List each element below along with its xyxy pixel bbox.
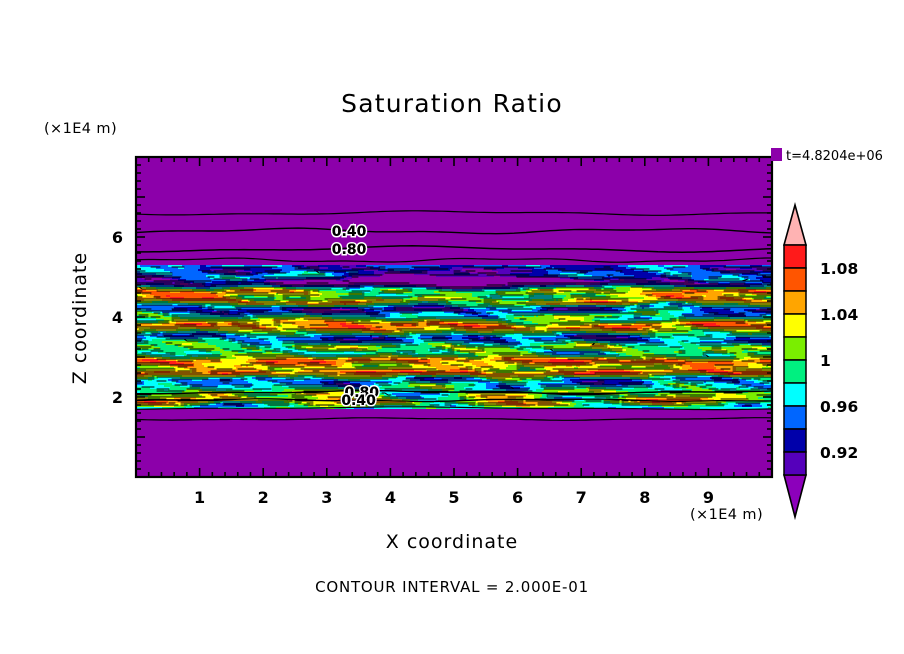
contour-field [136,157,772,477]
contour-label: 0.400.40 [332,224,367,240]
colorbar-band [784,383,806,406]
svg-text:0.80: 0.80 [332,242,367,258]
x-tick-label: 8 [639,488,650,507]
y-tick-label: 2 [112,388,123,407]
x-tick-label: 5 [448,488,459,507]
colorbar-tick-label: 1 [820,352,831,370]
x-tick-label: 7 [576,488,587,507]
colorbar-band [784,360,806,383]
y-axis-unit-label: (×1E4 m) [44,121,117,137]
y-tick-label: 4 [112,308,123,327]
contour-plot-figure: Saturation Ratio (×1E4 m) t=4.8204e+06 0… [0,0,904,654]
x-tick-label: 2 [258,488,269,507]
timestamp-label: t=4.8204e+06 [786,149,883,164]
x-tick-label: 4 [385,488,396,507]
colorbar-tick-label: 0.96 [820,398,858,416]
x-tick-label: 1 [194,488,205,507]
svg-text:0.40: 0.40 [341,393,376,409]
x-tick-label: 9 [703,488,714,507]
timestamp-swatch [771,148,782,161]
figure-canvas: Saturation Ratio (×1E4 m) t=4.8204e+06 0… [0,0,904,654]
contour-label: 0.400.40 [341,393,376,409]
contour-label: 0.800.80 [332,242,367,258]
svg-text:0.40: 0.40 [332,224,367,240]
x-tick-label: 6 [512,488,523,507]
colorbar-tick-label: 1.08 [820,260,858,278]
colorbar-tick-label: 1.04 [820,306,858,324]
colorbar-band [784,314,806,337]
colorbar-band [784,268,806,291]
x-axis-title: X coordinate [386,531,518,553]
plot-area: 0.400.400.800.800.800.800.400.40 [136,157,772,477]
x-tick-label: 3 [321,488,332,507]
page-title: Saturation Ratio [341,89,563,118]
colorbar-tick-label: 0.92 [820,444,858,462]
colorbar-band [784,291,806,314]
colorbar-band [784,429,806,452]
y-axis-title: Z coordinate [69,252,91,384]
x-axis-unit-label: (×1E4 m) [690,507,763,523]
contour-interval-caption: CONTOUR INTERVAL = 2.000E-01 [315,578,589,596]
colorbar-band [784,245,806,268]
y-tick-label: 6 [112,228,123,247]
colorbar-band [784,337,806,360]
colorbar-band [784,452,806,475]
colorbar-band [784,406,806,429]
